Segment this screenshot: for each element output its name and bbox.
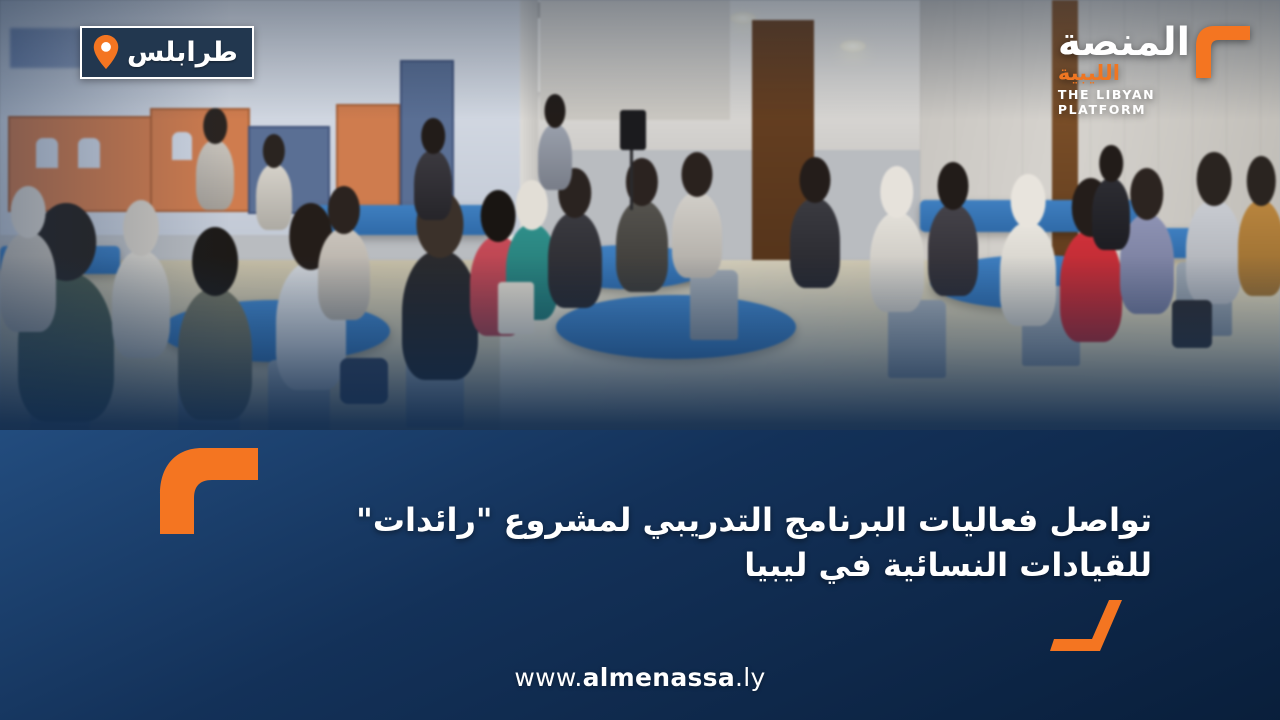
site-url[interactable]: www.almenassa.ly (0, 663, 1280, 692)
headline-line-1: تواصل فعاليات البرنامج التدريبي لمشروع "… (252, 498, 1152, 543)
attendee (256, 164, 292, 230)
headline: تواصل فعاليات البرنامج التدريبي لمشروع "… (252, 498, 1152, 589)
map-pin-icon (93, 35, 119, 69)
news-card: طرابلس المنصة الليبية THE LIBYAN PLATFOR… (0, 0, 1280, 720)
headline-line-2: للقيادات النسائية في ليبيا (252, 543, 1152, 588)
logo-wordmark: المنصة الليبية THE LIBYAN PLATFORM (1058, 20, 1190, 118)
logo-arabic-main: المنصة (1058, 24, 1190, 61)
orange-r-bracket-mark-icon (1194, 24, 1252, 80)
orange-angle-bracket-decor (1048, 598, 1140, 653)
location-badge[interactable]: طرابلس (80, 26, 254, 79)
site-url-tld: .ly (735, 663, 766, 692)
orange-rounded-bracket-decor (158, 446, 262, 536)
site-logo[interactable]: المنصة الليبية THE LIBYAN PLATFORM (1058, 20, 1252, 118)
speaker-stand (630, 150, 633, 210)
photographer (1092, 178, 1130, 250)
logo-arabic-sub: الليبية (1058, 63, 1120, 84)
attendee (414, 150, 452, 220)
site-url-name: almenassa (583, 663, 735, 692)
logo-english-line1: THE LIBYAN (1058, 88, 1155, 103)
site-url-prefix: www. (514, 663, 582, 692)
logo-english: THE LIBYAN PLATFORM (1058, 88, 1155, 118)
location-badge-label: طرابلس (127, 39, 238, 66)
attendee (538, 124, 572, 190)
logo-english-line2: PLATFORM (1058, 103, 1155, 118)
